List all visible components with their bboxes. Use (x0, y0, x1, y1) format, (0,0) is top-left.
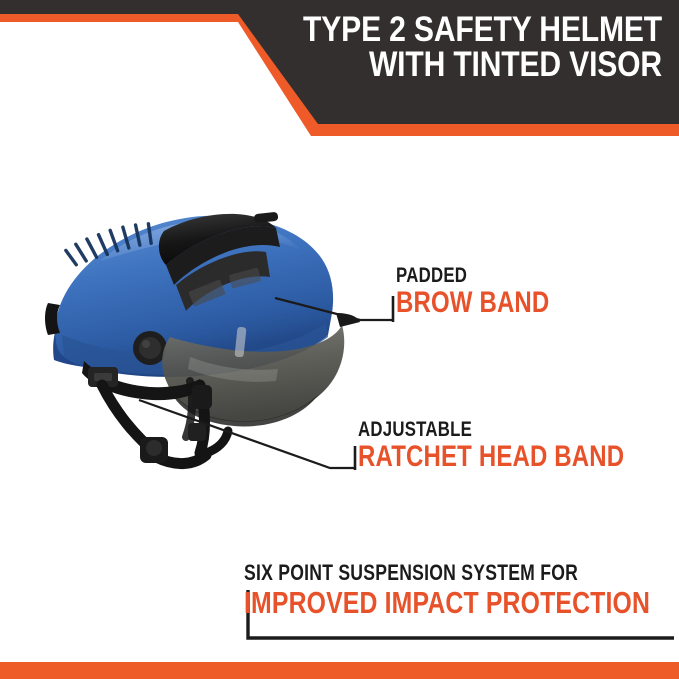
chin-strap-buckle-right (192, 385, 212, 409)
bottom-feature-sublabel: SIX POINT SUSPENSION SYSTEM FOR (244, 562, 650, 584)
footer-accent-bar (0, 662, 679, 679)
helmet-top-clip (254, 212, 279, 223)
page-title-line-2: WITH TINTED VISOR (258, 48, 662, 83)
callout-ratchet-head-band: ADJUSTABLE RATCHET HEAD BAND (358, 419, 679, 473)
page-title: TYPE 2 SAFETY HELMET WITH TINTED VISOR (258, 13, 662, 82)
infographic-canvas: TYPE 2 SAFETY HELMET WITH TINTED VISOR (0, 0, 679, 679)
callout-brow-band: PADDED BROW BAND (396, 265, 588, 319)
callout-ratchet-head-band-sublabel: ADJUSTABLE (358, 419, 624, 440)
callout-brow-band-label: BROW BAND (396, 288, 549, 319)
visor-edge-tab (336, 313, 360, 327)
safety-helmet-image (40, 185, 370, 515)
visor-pivot-knob-gloss (142, 340, 150, 348)
header-banner: TYPE 2 SAFETY HELMET WITH TINTED VISOR (0, 0, 679, 140)
bottom-feature-statement: SIX POINT SUSPENSION SYSTEM FOR IMPROVED… (244, 562, 679, 619)
page-title-line-1: TYPE 2 SAFETY HELMET (258, 13, 662, 48)
chin-strap-slider (188, 423, 206, 441)
bottom-feature-label: IMPROVED IMPACT PROTECTION (244, 587, 650, 619)
chin-strap-buckle-left-knob (146, 440, 162, 456)
callout-brow-band-sublabel: PADDED (396, 265, 549, 286)
visor-pivot-knob-inner (139, 337, 161, 359)
callout-ratchet-head-band-label: RATCHET HEAD BAND (358, 442, 624, 473)
